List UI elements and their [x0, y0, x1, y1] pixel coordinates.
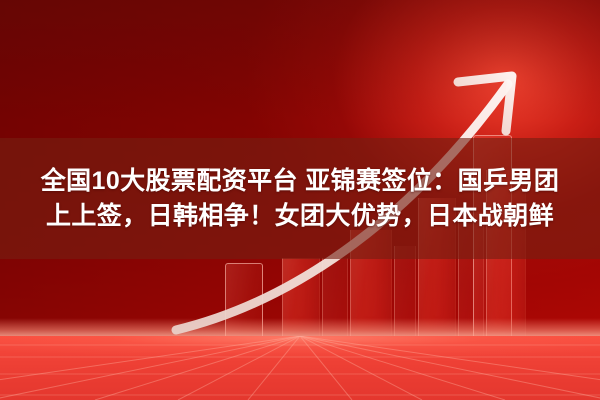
- floor-grid-icon: [0, 336, 600, 400]
- perspective-floor: [0, 336, 600, 400]
- top-shade-overlay: [0, 0, 600, 120]
- stock-news-banner: 全国10大股票配资平台 亚锦赛签位：国乒男团 上上签，日韩相争！女团大优势，日本…: [0, 0, 600, 400]
- headline-text-block: 全国10大股票配资平台 亚锦赛签位：国乒男团 上上签，日韩相争！女团大优势，日本…: [0, 138, 600, 259]
- headline-line-2: 上上签，日韩相争！女团大优势，日本战朝鲜: [46, 200, 554, 232]
- headline-line-1: 全国10大股票配资平台 亚锦赛签位：国乒男团: [41, 165, 560, 197]
